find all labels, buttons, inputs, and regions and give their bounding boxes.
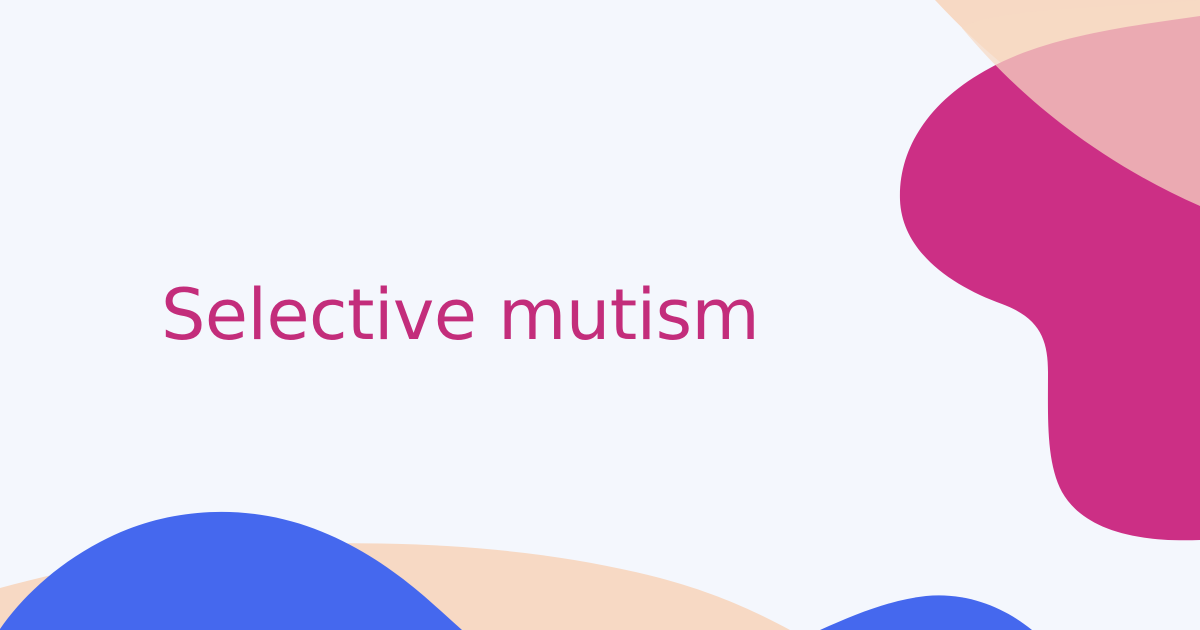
decorative-background-art: [0, 0, 1200, 630]
social-card: Selective mutism: [0, 0, 1200, 630]
